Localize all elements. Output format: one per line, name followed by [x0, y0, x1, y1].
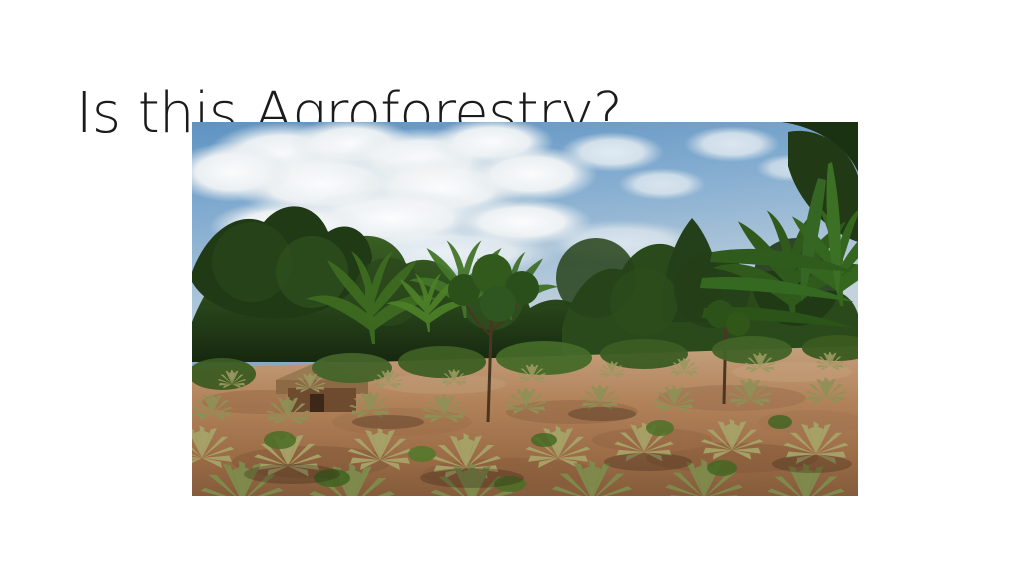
slide-photo: [192, 122, 858, 496]
photo-illustration: [192, 122, 858, 496]
presentation-slide: Is this Agroforestry?: [0, 0, 1024, 576]
